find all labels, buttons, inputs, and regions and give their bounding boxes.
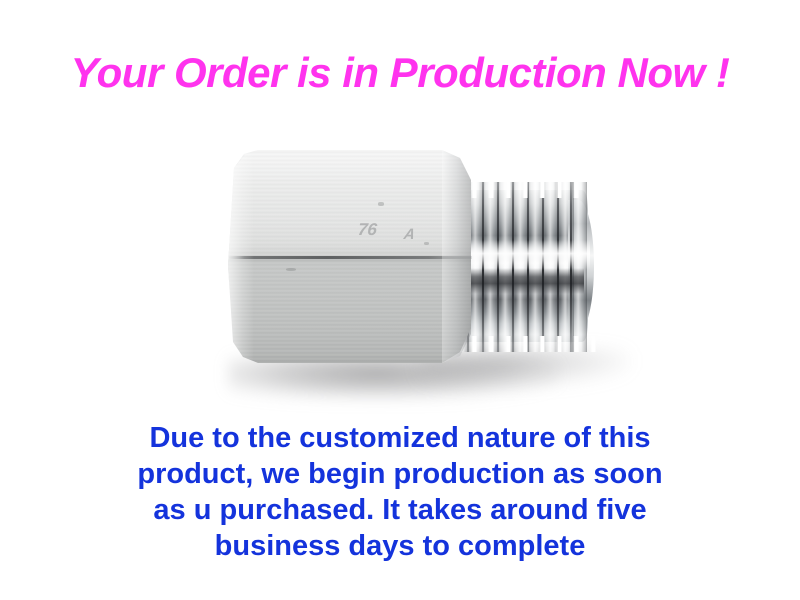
product-photo: 76 A — [0, 120, 800, 410]
surface-scuff — [378, 202, 384, 206]
notice-line: product, we begin production as soon — [0, 456, 800, 492]
notice-line: Due to the customized nature of this — [0, 420, 800, 456]
production-notice: Due to the customized nature of this pro… — [0, 420, 800, 564]
surface-scuff — [286, 268, 296, 271]
hex-facet-edge — [230, 256, 472, 259]
hex-left-bevel — [228, 154, 254, 360]
hex-right-shoulder — [442, 150, 474, 364]
hex-body: 76 A — [228, 146, 476, 368]
promo-banner: Your Order is in Production Now ! — [0, 0, 800, 600]
notice-line: business days to complete — [0, 528, 800, 564]
hex-stamp-mark-1: 76 — [357, 220, 378, 240]
notice-line: as u purchased. It takes around five — [0, 492, 800, 528]
surface-scuff — [424, 242, 429, 245]
page-title: Your Order is in Production Now ! — [0, 52, 800, 94]
